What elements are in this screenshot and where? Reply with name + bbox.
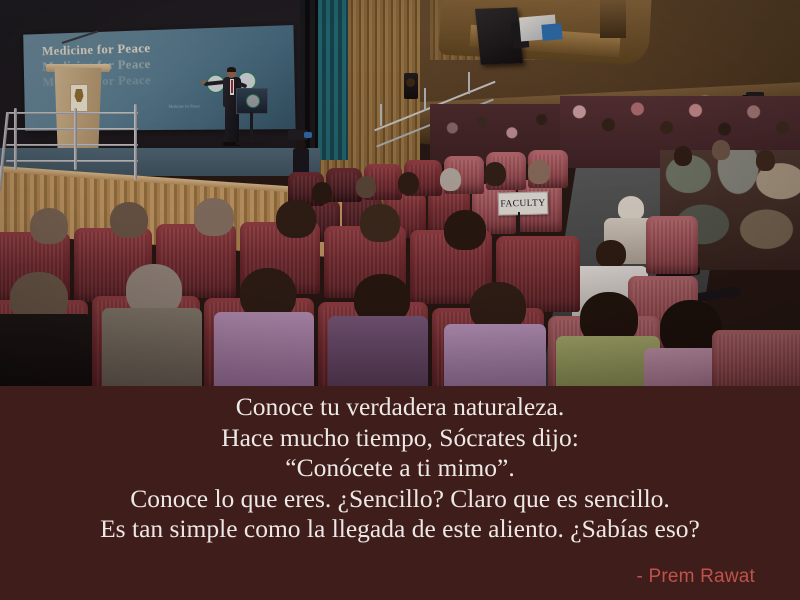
speaker-hair [227,67,236,72]
stage-curtain-teal [318,0,348,160]
audience-head [194,198,234,236]
audience-head [674,146,692,166]
audience-body [214,312,314,386]
blue-equipment-case [541,23,562,41]
camera-monitor [304,132,312,138]
stage-railing-post [134,104,137,180]
audience-head [756,150,775,171]
quote-text-block: Conoce tu verdadera naturaleza. Hace muc… [0,392,800,545]
banner-subtitle: Medicine for Peace [168,103,200,108]
quote-poster: Medicine for Peace Medicine for Peace Me… [0,0,800,600]
stage-railing-bar [6,128,138,130]
faculty-sign-label: FACULTY [500,198,545,209]
audience-body [444,324,546,386]
seat [712,330,800,386]
audience-head [360,204,400,242]
camera-operator [292,130,310,176]
audience-body [328,316,428,386]
handrail-post [468,72,470,94]
speaker-tie [231,80,233,93]
quote-line: Es tan simple como la llegada de este al… [0,514,800,545]
audience-head [30,208,68,244]
audience-head [312,182,332,204]
auditorium-photo: Medicine for Peace Medicine for Peace Me… [0,0,800,386]
seat [646,216,698,274]
lectern-base [236,142,266,145]
audience-head [440,168,461,191]
audience-head [444,210,486,250]
projection-booth-box [600,0,626,38]
handrail-post [424,88,426,110]
audience-head [398,172,419,195]
stage-railing-bar [6,160,138,162]
quote-line: “Conócete a ti mimo”. [0,453,800,484]
stage-railing-post [74,108,77,170]
audience-head [276,200,316,238]
stage-railing-bar [6,112,138,114]
handrail-post [380,104,382,126]
speaker-hand [201,80,206,84]
quote-line: Conoce tu verdadera naturaleza. [0,392,800,423]
audience-head-turban [618,196,644,220]
audience-body [102,308,202,386]
lectern-stand [250,112,253,144]
national-emblem-icon [70,84,88,112]
small-lectern [236,88,268,114]
audience-body [0,314,92,386]
stage-railing-bar [6,144,138,146]
wall-speaker-cone [406,78,415,87]
audience-head [596,240,626,268]
quote-line: Hace mucho tiempo, Sócrates dijo: [0,423,800,454]
audience-head [356,176,376,198]
audience-head [484,162,506,186]
quote-line: Conoce lo que eres. ¿Sencillo? Claro que… [0,484,800,515]
faculty-sign-stick [518,212,520,232]
caption-band: Conoce tu verdadera naturaleza. Hace muc… [0,386,800,600]
audience-head [110,202,148,238]
faculty-sign: FACULTY [498,191,549,215]
quote-attribution: - Prem Rawat [636,566,755,588]
stage-railing-post [14,108,17,170]
audience-head [712,140,730,160]
audience-head [528,160,550,184]
